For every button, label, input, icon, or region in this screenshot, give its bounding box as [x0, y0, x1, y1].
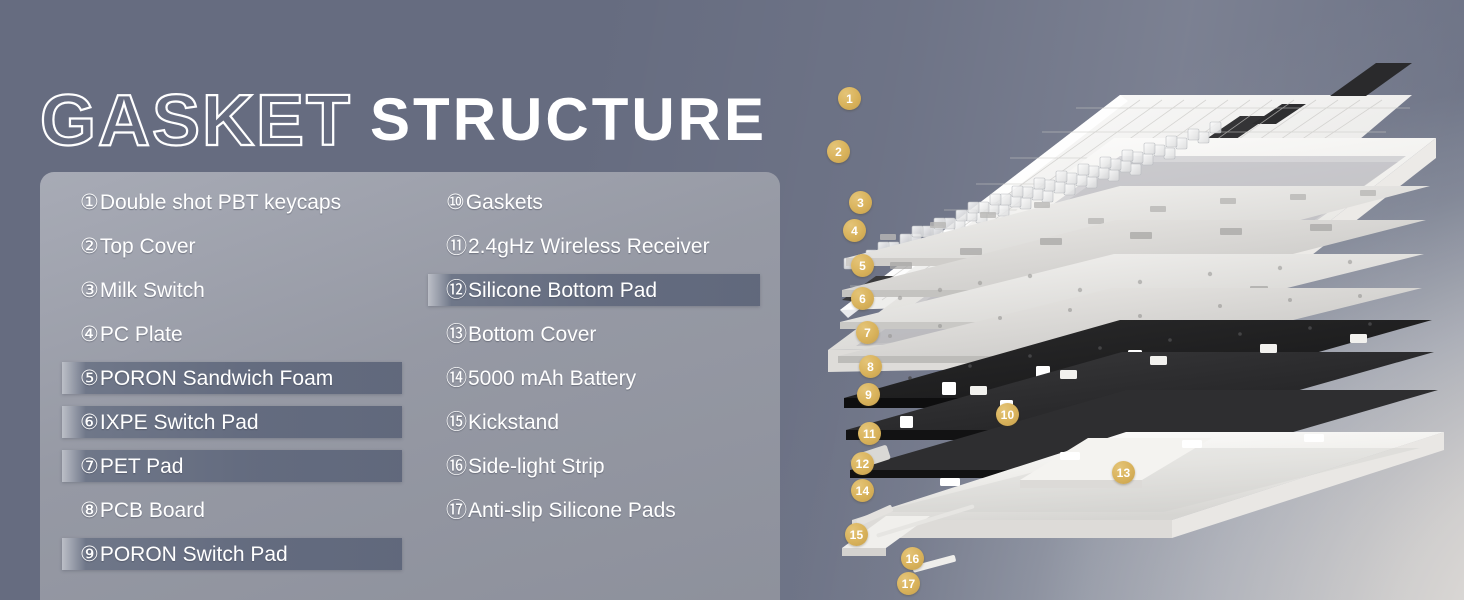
legend-item-number: ⑫ — [446, 280, 467, 301]
legend-item-number: ③ — [80, 280, 99, 301]
callout-badge-14[interactable]: 14 — [851, 479, 874, 502]
legend-item-6[interactable]: ⑥IXPE Switch Pad — [62, 406, 402, 438]
legend-item-number: ⑦ — [80, 456, 99, 477]
page-title: GASKET STRUCTURE — [40, 78, 800, 164]
legend-panel: ①Double shot PBT keycaps②Top Cover③Milk … — [40, 172, 780, 600]
title-solid-word: STRUCTURE — [370, 90, 767, 152]
legend-item-number: ⑧ — [80, 500, 99, 521]
legend-item-10[interactable]: ⑩Gaskets — [428, 186, 778, 218]
legend-item-label: Silicone Bottom Pad — [468, 280, 657, 301]
legend-item-8[interactable]: ⑧PCB Board — [62, 494, 412, 526]
callout-badge-12[interactable]: 12 — [851, 452, 874, 475]
legend-item-label: Side-light Strip — [468, 456, 605, 477]
legend-item-number: ⑪ — [446, 236, 467, 257]
legend-column-right: ⑩Gaskets⑪2.4gHz Wireless Receiver⑫Silico… — [428, 186, 778, 538]
legend-item-14[interactable]: ⑭5000 mAh Battery — [428, 362, 778, 394]
callout-badge-3[interactable]: 3 — [849, 191, 872, 214]
callout-badge-17[interactable]: 17 — [897, 572, 920, 595]
legend-item-1[interactable]: ①Double shot PBT keycaps — [62, 186, 412, 218]
legend-item-5[interactable]: ⑤PORON Sandwich Foam — [62, 362, 402, 394]
legend-item-label: PET Pad — [100, 456, 184, 477]
legend-item-3[interactable]: ③Milk Switch — [62, 274, 412, 306]
legend-item-label: Top Cover — [100, 236, 196, 257]
legend-item-16[interactable]: ⑯Side-light Strip — [428, 450, 778, 482]
legend-item-number: ⑤ — [80, 368, 99, 389]
legend-item-label: Double shot PBT keycaps — [100, 192, 341, 213]
legend-item-13[interactable]: ⑬Bottom Cover — [428, 318, 778, 350]
legend-item-label: PORON Switch Pad — [100, 544, 288, 565]
legend-item-label: IXPE Switch Pad — [100, 412, 259, 433]
legend-item-number: ⑬ — [446, 324, 467, 345]
legend-item-number: ⑩ — [446, 192, 465, 213]
callout-badge-8[interactable]: 8 — [859, 355, 882, 378]
legend-item-4[interactable]: ④PC Plate — [62, 318, 412, 350]
legend-item-label: PC Plate — [100, 324, 183, 345]
callout-badge-4[interactable]: 4 — [843, 219, 866, 242]
title-outline-word: GASKET — [40, 85, 352, 157]
legend-item-15[interactable]: ⑮Kickstand — [428, 406, 778, 438]
callout-badge-5[interactable]: 5 — [851, 254, 874, 277]
legend-item-label: Anti-slip Silicone Pads — [468, 500, 676, 521]
legend-item-label: Kickstand — [468, 412, 559, 433]
legend-item-label: 5000 mAh Battery — [468, 368, 636, 389]
legend-item-label: PCB Board — [100, 500, 205, 521]
keyboard-layers-illustration — [820, 0, 1464, 600]
legend-item-label: PORON Sandwich Foam — [100, 368, 333, 389]
callout-badge-13[interactable]: 13 — [1112, 461, 1135, 484]
callout-badge-2[interactable]: 2 — [827, 140, 850, 163]
callout-badge-15[interactable]: 15 — [845, 523, 868, 546]
legend-item-number: ⑰ — [446, 500, 467, 521]
legend-item-11[interactable]: ⑪2.4gHz Wireless Receiver — [428, 230, 778, 262]
callout-badge-6[interactable]: 6 — [851, 287, 874, 310]
callout-badge-7[interactable]: 7 — [856, 321, 879, 344]
legend-item-number: ⑮ — [446, 412, 467, 433]
legend-item-number: ⑥ — [80, 412, 99, 433]
callout-badge-1[interactable]: 1 — [838, 87, 861, 110]
exploded-keyboard-render — [820, 0, 1464, 600]
callout-badge-16[interactable]: 16 — [901, 547, 924, 570]
legend-item-number: ⑨ — [80, 544, 99, 565]
legend-item-9[interactable]: ⑨PORON Switch Pad — [62, 538, 402, 570]
legend-item-label: 2.4gHz Wireless Receiver — [468, 236, 710, 257]
legend-item-label: Bottom Cover — [468, 324, 596, 345]
legend-item-17[interactable]: ⑰Anti-slip Silicone Pads — [428, 494, 778, 526]
callout-badge-9[interactable]: 9 — [857, 383, 880, 406]
legend-item-label: Gaskets — [466, 192, 543, 213]
legend-item-number: ⑭ — [446, 368, 467, 389]
legend-item-7[interactable]: ⑦PET Pad — [62, 450, 402, 482]
legend-item-number: ② — [80, 236, 99, 257]
legend-item-12[interactable]: ⑫Silicone Bottom Pad — [428, 274, 760, 306]
callout-badge-11[interactable]: 11 — [858, 422, 881, 445]
legend-item-number: ⑯ — [446, 456, 467, 477]
callout-badge-10[interactable]: 10 — [996, 403, 1019, 426]
legend-item-number: ① — [80, 192, 99, 213]
legend-item-2[interactable]: ②Top Cover — [62, 230, 412, 262]
legend-item-label: Milk Switch — [100, 280, 205, 301]
legend-column-left: ①Double shot PBT keycaps②Top Cover③Milk … — [62, 186, 412, 582]
legend-item-number: ④ — [80, 324, 99, 345]
